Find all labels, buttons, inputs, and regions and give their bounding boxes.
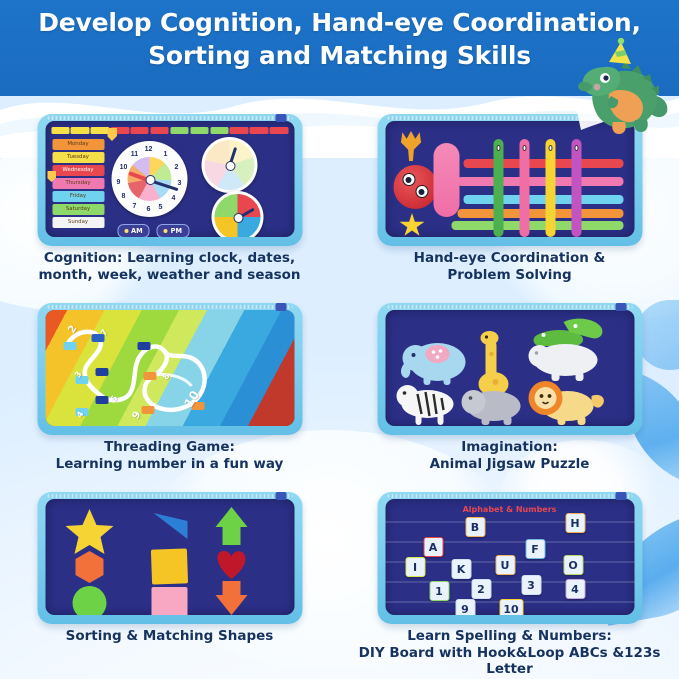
- letter-tile-k[interactable]: K: [451, 559, 471, 579]
- clock-num-1: 1: [160, 149, 171, 160]
- am-button[interactable]: AM: [117, 224, 150, 237]
- bead-8[interactable]: [143, 372, 156, 380]
- zip-case-spelling: Alphabet & Numbers B H A F I K U O 1 2 3: [377, 492, 642, 624]
- board-fabric: 2 7 3 5 4 8 10 9: [45, 310, 294, 426]
- weather-wheel-hub: [225, 161, 235, 171]
- am-pm-toggle-group[interactable]: AM PM: [117, 224, 189, 237]
- letter-tile-h[interactable]: H: [565, 513, 585, 533]
- buckle-stick-yellow[interactable]: [545, 139, 555, 237]
- caption-hand-eye-line-1: Hand-eye Coordination &: [414, 250, 606, 266]
- clock-num-11: 11: [129, 149, 140, 160]
- lion-shape: [528, 381, 603, 425]
- zipper-track: [47, 305, 292, 309]
- strap-green[interactable]: [451, 221, 623, 230]
- weekday-wednesday[interactable]: Wednesday: [52, 165, 104, 176]
- shape-arrow-down: [215, 581, 247, 615]
- shape-star: [65, 509, 113, 554]
- zipper-pull: [275, 114, 286, 122]
- board-image-sorting: [37, 492, 302, 624]
- zipper-track: [387, 305, 632, 309]
- hippo-shape: [528, 344, 597, 381]
- zipper-track: [47, 116, 292, 120]
- bead-3[interactable]: [95, 368, 108, 376]
- buckle-stick-green[interactable]: [493, 139, 503, 237]
- month-strip[interactable]: [51, 127, 288, 134]
- weekday-labels[interactable]: Monday Tuesday Wednesday Thursday Friday…: [52, 139, 104, 228]
- season-wheel-hub: [233, 213, 243, 223]
- tulip-piece[interactable]: [399, 131, 423, 161]
- feature-tile-imagination: Imagination: Animal Jigsaw Puzzle: [340, 301, 679, 490]
- alphabet-numbers-title: Alphabet & Numbers: [385, 505, 634, 514]
- zip-case-threading: 2 7 3 5 4 8 10 9: [37, 303, 302, 435]
- strap-pink[interactable]: [457, 177, 623, 186]
- learning-clock[interactable]: 12 1 2 3 4 5 6 7 8 9 10 11: [111, 141, 187, 217]
- caption-spelling-line-1: Learn Spelling & Numbers:: [407, 628, 612, 644]
- board-fabric: Alphabet & Numbers B H A F I K U O 1 2 3: [385, 499, 634, 615]
- caption-imagination-line-2: Animal Jigsaw Puzzle: [340, 456, 679, 473]
- clock-num-7: 7: [129, 201, 140, 212]
- caption-cognition: Cognition: Learning clock, dates, month,…: [0, 250, 339, 283]
- zebra-shape: [396, 385, 453, 425]
- infographic-page: Develop Cognition, Hand-eye Coordination…: [0, 0, 679, 679]
- shape-square-pink: [151, 587, 187, 615]
- weekday-thursday[interactable]: Thursday: [52, 178, 104, 189]
- clock-num-12: 12: [143, 144, 154, 155]
- letter-tile-i[interactable]: I: [405, 557, 425, 577]
- strap-orange[interactable]: [457, 209, 623, 218]
- letter-tile-a[interactable]: A: [423, 537, 443, 557]
- letter-tile-b[interactable]: B: [465, 517, 485, 537]
- clock-num-8: 8: [118, 191, 129, 202]
- weekday-saturday[interactable]: Saturday: [52, 204, 104, 215]
- zipper-track: [47, 494, 292, 498]
- crab-eye-left: [402, 173, 415, 186]
- feature-grid: Monday Tuesday Wednesday Thursday Friday…: [0, 112, 679, 679]
- board-image-imagination: [377, 303, 642, 435]
- octopus-piece[interactable]: [433, 143, 459, 217]
- page-title-line-1: Develop Cognition, Hand-eye Coordination…: [38, 8, 641, 37]
- zipper-pull: [275, 492, 286, 500]
- number-tile-4[interactable]: 4: [565, 579, 585, 599]
- shape-heart: [217, 551, 245, 579]
- weekday-friday[interactable]: Friday: [52, 191, 104, 202]
- clock-num-10: 10: [118, 162, 129, 173]
- shape-hexagon: [75, 551, 103, 583]
- clock-num-2: 2: [171, 162, 182, 173]
- board-fabric: Monday Tuesday Wednesday Thursday Friday…: [45, 121, 294, 237]
- weekday-sunday[interactable]: Sunday: [52, 217, 104, 228]
- shape-arrow-up: [215, 507, 247, 545]
- board-fabric: [385, 310, 634, 426]
- bead-2[interactable]: [63, 342, 76, 350]
- zipper-pull: [615, 303, 626, 311]
- number-tile-9[interactable]: 9: [455, 599, 475, 615]
- feature-tile-threading: 2 7 3 5 4 8 10 9 Threading Game: Learnin…: [0, 301, 339, 490]
- star-piece[interactable]: [399, 213, 425, 237]
- strap-cyan[interactable]: [463, 195, 623, 204]
- caption-hand-eye-line-2: Problem Solving: [340, 267, 679, 284]
- board-image-cognition: Monday Tuesday Wednesday Thursday Friday…: [37, 114, 302, 246]
- feature-tile-cognition: Monday Tuesday Wednesday Thursday Friday…: [0, 112, 339, 301]
- crab-piece[interactable]: [393, 165, 437, 209]
- feature-tile-sorting: Sorting & Matching Shapes: [0, 490, 339, 679]
- zipper-track: [387, 494, 632, 498]
- caption-spelling-line-2: DIY Board with Hook&Loop ABCs &123s Lett…: [340, 645, 679, 678]
- board-fabric: [45, 499, 294, 615]
- letter-tile-f[interactable]: F: [525, 539, 545, 559]
- caption-threading-line-1: Threading Game:: [104, 439, 235, 455]
- caption-threading-line-2: Learning number in a fun way: [0, 456, 339, 473]
- letter-tile-u[interactable]: U: [495, 555, 515, 575]
- shape-triangle: [153, 513, 187, 539]
- zip-case-sorting: [37, 492, 302, 624]
- number-tile-10[interactable]: 10: [499, 599, 523, 615]
- caption-imagination: Imagination: Animal Jigsaw Puzzle: [340, 439, 679, 472]
- number-tile-1[interactable]: 1: [429, 581, 449, 601]
- zipper-pull: [275, 303, 286, 311]
- bead-9[interactable]: [141, 406, 154, 414]
- caption-cognition-line-2: month, week, weather and season: [0, 267, 339, 284]
- feature-tile-spelling: Alphabet & Numbers B H A F I K U O 1 2 3: [340, 490, 679, 679]
- number-tile-3[interactable]: 3: [521, 575, 541, 595]
- weekday-tuesday[interactable]: Tuesday: [52, 152, 104, 163]
- weekday-monday[interactable]: Monday: [52, 139, 104, 150]
- elephant-shape: [401, 343, 466, 385]
- shape-square-yellow: [150, 548, 187, 584]
- board-title-text: Alphabet & Numbers: [463, 505, 557, 514]
- zip-case-cognition: Monday Tuesday Wednesday Thursday Friday…: [37, 114, 302, 246]
- caption-imagination-line-1: Imagination:: [461, 439, 558, 455]
- caption-sorting-line-1: Sorting & Matching Shapes: [66, 628, 274, 644]
- pm-button[interactable]: PM: [157, 224, 189, 237]
- letter-tile-o[interactable]: O: [563, 555, 583, 575]
- rhino-shape: [461, 390, 520, 425]
- buckle-stick-pink[interactable]: [519, 139, 529, 237]
- crab-eye-right: [415, 185, 428, 198]
- clock-center-pin: [145, 175, 155, 185]
- shape-circle: [72, 586, 106, 615]
- clock-num-5: 5: [155, 202, 166, 213]
- season-wheel[interactable]: [211, 191, 263, 237]
- zip-case-imagination: [377, 303, 642, 435]
- buckle-stick-purple[interactable]: [571, 139, 581, 237]
- caption-threading: Threading Game: Learning number in a fun…: [0, 439, 339, 472]
- bead-7[interactable]: [137, 342, 150, 350]
- board-image-threading: 2 7 3 5 4 8 10 9: [37, 303, 302, 435]
- party-dinosaur-mascot: [575, 38, 671, 150]
- clock-num-6: 6: [143, 204, 154, 215]
- strap-red[interactable]: [463, 159, 623, 168]
- board-image-spelling: Alphabet & Numbers B H A F I K U O 1 2 3: [377, 492, 642, 624]
- caption-hand-eye: Hand-eye Coordination & Problem Solving: [340, 250, 679, 283]
- bead-1[interactable]: [91, 334, 104, 342]
- number-tile-2[interactable]: 2: [471, 579, 491, 599]
- bead-5[interactable]: [95, 396, 108, 404]
- crocodile-shape: [533, 319, 602, 346]
- clock-num-9: 9: [113, 177, 124, 188]
- zipper-pull: [615, 492, 626, 500]
- month-marker[interactable]: [107, 128, 117, 141]
- weather-wheel[interactable]: [201, 137, 257, 193]
- clock-num-4: 4: [168, 193, 179, 204]
- caption-sorting: Sorting & Matching Shapes: [0, 628, 339, 645]
- caption-cognition-line-1: Cognition: Learning clock, dates,: [44, 250, 295, 266]
- caption-spelling: Learn Spelling & Numbers: DIY Board with…: [340, 628, 679, 678]
